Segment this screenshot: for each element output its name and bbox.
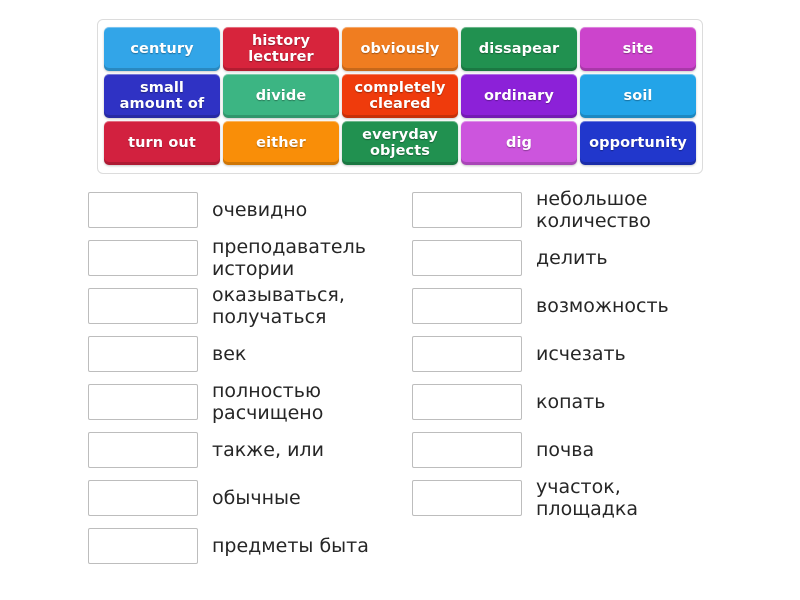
word-tile[interactable]: divide (223, 74, 339, 118)
word-tile[interactable]: dissapear (461, 27, 577, 71)
answer-row: также, или (88, 426, 418, 474)
answer-row: полностью расчищено (88, 378, 418, 426)
answer-label: исчезать (536, 343, 626, 365)
answer-row: исчезать (412, 330, 742, 378)
answer-row: возможность (412, 282, 742, 330)
tile-bank: centuryhistory lecturerobviouslydissapea… (97, 19, 703, 174)
word-tile[interactable]: ordinary (461, 74, 577, 118)
answer-column-left: очевиднопреподаватель историиоказываться… (88, 186, 418, 570)
word-tile[interactable]: dig (461, 121, 577, 165)
word-tile-label: everyday objects (362, 127, 438, 159)
answer-label: копать (536, 391, 605, 413)
word-tile-label: site (623, 41, 654, 57)
word-tile-label: opportunity (589, 135, 687, 151)
answer-drop-box[interactable] (88, 288, 198, 324)
answer-row: небольшое количество (412, 186, 742, 234)
answer-drop-box[interactable] (88, 336, 198, 372)
answer-row: оказываться, получаться (88, 282, 418, 330)
word-tile[interactable]: century (104, 27, 220, 71)
answer-label: оказываться, получаться (212, 284, 345, 328)
tile-row: small amount ofdividecompletely clearedo… (104, 74, 696, 118)
word-tile-label: dissapear (479, 41, 559, 57)
word-tile[interactable]: either (223, 121, 339, 165)
tile-row: turn outeithereveryday objectsdigopportu… (104, 121, 696, 165)
answer-row: почва (412, 426, 742, 474)
answer-label: очевидно (212, 199, 307, 221)
answer-row: преподаватель истории (88, 234, 418, 282)
answer-label: делить (536, 247, 608, 269)
answer-drop-box[interactable] (88, 192, 198, 228)
answer-label: возможность (536, 295, 669, 317)
answer-row: участок, площадка (412, 474, 742, 522)
word-tile-label: completely cleared (354, 80, 445, 112)
answer-label: преподаватель истории (212, 236, 366, 280)
word-tile[interactable]: opportunity (580, 121, 696, 165)
answer-drop-box[interactable] (88, 528, 198, 564)
word-tile-label: turn out (128, 135, 196, 151)
answer-drop-box[interactable] (412, 192, 522, 228)
word-tile[interactable]: obviously (342, 27, 458, 71)
word-tile-label: ordinary (484, 88, 554, 104)
answer-column-right: небольшое количестводелитьвозможностьисч… (412, 186, 742, 570)
answer-drop-box[interactable] (412, 240, 522, 276)
answer-drop-box[interactable] (88, 480, 198, 516)
answer-label: также, или (212, 439, 324, 461)
word-tile[interactable]: history lecturer (223, 27, 339, 71)
word-tile-label: divide (256, 88, 307, 104)
answer-row: очевидно (88, 186, 418, 234)
word-tile-label: small amount of (120, 80, 205, 112)
word-tile-label: history lecturer (248, 33, 314, 65)
word-tile[interactable]: everyday objects (342, 121, 458, 165)
answer-drop-box[interactable] (88, 432, 198, 468)
word-tile[interactable]: small amount of (104, 74, 220, 118)
answer-drop-box[interactable] (412, 288, 522, 324)
answer-row: век (88, 330, 418, 378)
answer-label: небольшое количество (536, 188, 651, 232)
answer-drop-box[interactable] (88, 384, 198, 420)
answer-drop-box[interactable] (412, 480, 522, 516)
answer-drop-box[interactable] (412, 336, 522, 372)
tile-row: centuryhistory lecturerobviouslydissapea… (104, 27, 696, 71)
answer-drop-box[interactable] (88, 240, 198, 276)
answer-label: век (212, 343, 246, 365)
answer-row: предметы быта (88, 522, 418, 570)
answer-drop-box[interactable] (412, 384, 522, 420)
answer-label: предметы быта (212, 535, 369, 557)
answer-label: участок, площадка (536, 476, 638, 520)
word-tile[interactable]: soil (580, 74, 696, 118)
answer-row: копать (412, 378, 742, 426)
word-tile-label: century (130, 41, 193, 57)
answer-label: полностью расчищено (212, 380, 323, 424)
answer-columns: очевиднопреподаватель историиоказываться… (0, 186, 800, 570)
answer-row: обычные (88, 474, 418, 522)
word-tile[interactable]: turn out (104, 121, 220, 165)
answer-label: почва (536, 439, 594, 461)
word-tile[interactable]: completely cleared (342, 74, 458, 118)
answer-label: обычные (212, 487, 301, 509)
answer-drop-box[interactable] (412, 432, 522, 468)
word-tile-label: dig (506, 135, 532, 151)
word-tile[interactable]: site (580, 27, 696, 71)
answer-row: делить (412, 234, 742, 282)
word-tile-label: obviously (360, 41, 439, 57)
word-tile-label: soil (624, 88, 653, 104)
word-tile-label: either (256, 135, 306, 151)
